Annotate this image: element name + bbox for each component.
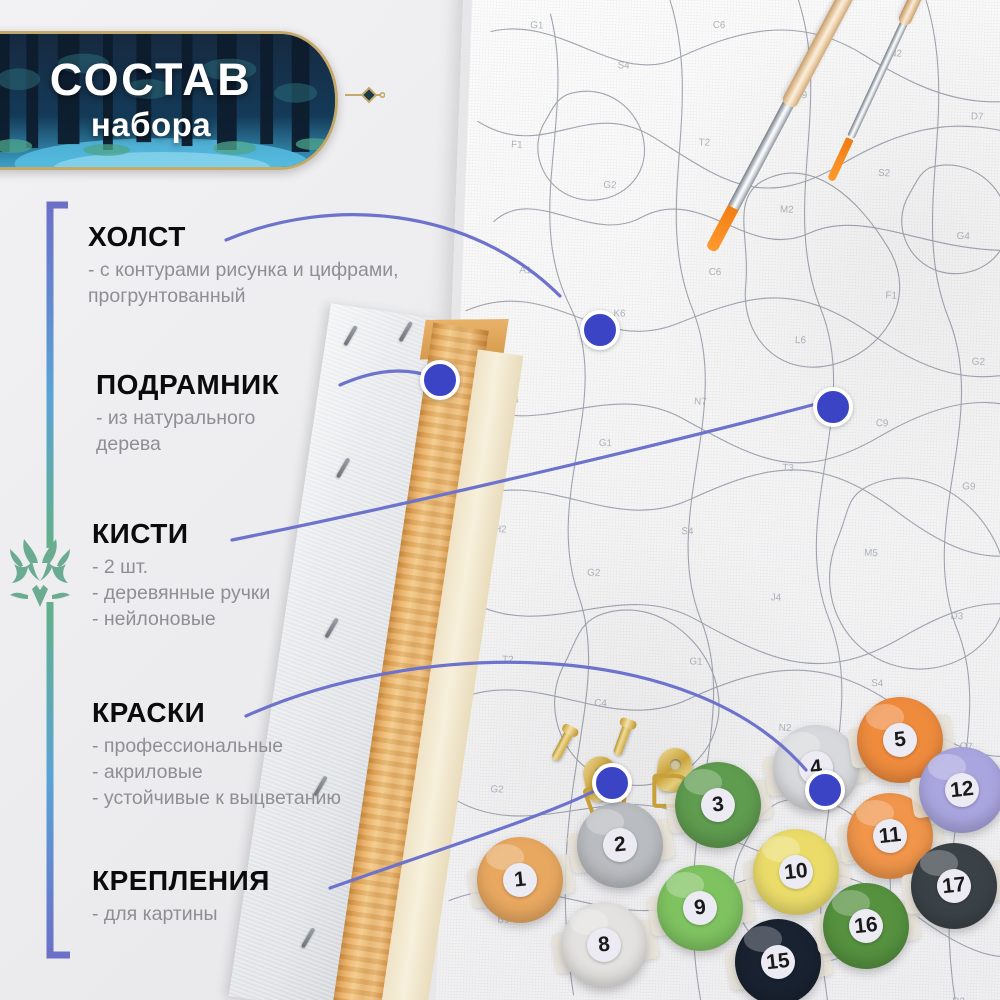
svg-text:M2: M2 [780, 204, 795, 216]
poster-stage: G1S4C6 G9N2D7 L6F1G2 T2M2S2 G4O9A1 K6C6L… [0, 0, 1000, 1000]
diamond-gem-ornament [345, 82, 385, 108]
svg-text:A1: A1 [519, 265, 532, 277]
svg-text:T2: T2 [502, 654, 514, 666]
item-canvas-bullets: - с контурами рисунка и цифрами, прогрун… [88, 258, 399, 310]
svg-text:G2: G2 [972, 356, 986, 368]
item-mounts-bullets: - для картины [92, 902, 270, 928]
svg-text:G2: G2 [587, 567, 601, 579]
svg-text:G4: G4 [956, 231, 970, 243]
svg-text:M5: M5 [864, 548, 879, 560]
svg-text:F1: F1 [511, 139, 523, 151]
svg-text:N7: N7 [694, 396, 707, 408]
svg-text:D7: D7 [971, 111, 984, 123]
callout-dot-paints [805, 770, 845, 810]
item-mounts-title: КРЕПЛЕНИЯ [92, 866, 270, 895]
svg-text:C4: C4 [594, 698, 607, 710]
svg-text:C6: C6 [713, 20, 726, 32]
svg-text:G1: G1 [689, 656, 703, 668]
bullet: - деревянные ручки [92, 581, 270, 607]
bracket-bottom [38, 600, 74, 960]
bullet: - для картины [92, 902, 270, 928]
item-paints: КРАСКИ - профессиональные - акриловые - … [92, 698, 341, 812]
paint-pot: 2 [577, 802, 663, 888]
svg-text:L6: L6 [795, 335, 807, 346]
item-brushes-title: КИСТИ [92, 519, 270, 548]
svg-text:C6: C6 [708, 267, 721, 279]
item-brushes-bullets: - 2 шт. - деревянные ручки - нейлоновые [92, 555, 270, 633]
item-mounts: КРЕПЛЕНИЯ - для картины [92, 866, 270, 928]
bullet: - акриловые [92, 760, 341, 786]
svg-text:G2: G2 [490, 784, 504, 796]
item-stretcher-title: ПОДРАМНИК [96, 370, 279, 399]
banner-title-line1: СОСТАВ [50, 57, 252, 102]
svg-text:T2: T2 [698, 137, 710, 149]
paint-pot: 8 [561, 902, 647, 988]
callout-dot-stretcher [420, 360, 460, 400]
banner-text: СОСТАВ набора [0, 34, 335, 167]
banner-title-line2: набора [91, 106, 211, 144]
bullet: - устойчивые к выцветанию [92, 786, 341, 812]
item-paints-title: КРАСКИ [92, 698, 341, 727]
callout-dot-canvas [580, 310, 620, 350]
svg-text:T3: T3 [782, 463, 794, 475]
svg-text:G2: G2 [603, 180, 617, 192]
item-stretcher: ПОДРАМНИК - из натурального дерева [96, 370, 279, 458]
svg-text:G1: G1 [599, 438, 613, 450]
svg-text:G9: G9 [962, 481, 976, 493]
callout-dot-mounts [592, 763, 632, 803]
paint-pot: 15 [735, 919, 821, 1000]
paint-pot: 17 [911, 843, 997, 929]
item-paints-bullets: - профессиональные - акриловые - устойчи… [92, 734, 341, 812]
item-canvas: ХОЛСТ - с контурами рисунка и цифрами, п… [88, 222, 399, 310]
svg-text:J4: J4 [771, 592, 782, 603]
svg-text:F1: F1 [885, 290, 897, 302]
svg-text:S4: S4 [617, 60, 630, 72]
bullet: - нейлоновые [92, 607, 270, 633]
svg-text:D3: D3 [950, 611, 963, 623]
bullet: - профессиональные [92, 734, 341, 760]
item-brushes: КИСТИ - 2 шт. - деревянные ручки - нейло… [92, 519, 270, 633]
bullet: - с контурами рисунка и цифрами, [88, 258, 399, 284]
paint-pot: 12 [919, 747, 1000, 833]
bullet: - из натурального [96, 406, 279, 432]
bullet: прогрунтованный [88, 284, 399, 310]
paint-pot: 16 [823, 883, 909, 969]
header-banner: СОСТАВ набора [0, 31, 338, 170]
svg-text:G1: G1 [530, 20, 544, 32]
paint-pot: 1 [477, 837, 563, 923]
item-canvas-title: ХОЛСТ [88, 222, 399, 251]
item-stretcher-bullets: - из натурального дерева [96, 406, 279, 458]
svg-text:S2: S2 [878, 168, 891, 180]
svg-text:C9: C9 [876, 418, 889, 430]
bracket-top [38, 200, 74, 550]
paint-pot: 3 [675, 762, 761, 848]
bullet: - 2 шт. [92, 555, 270, 581]
paint-pot: 9 [657, 865, 743, 951]
callout-dot-brushes [813, 387, 853, 427]
svg-text:S4: S4 [681, 526, 694, 538]
bullet: дерева [96, 432, 279, 458]
svg-text:S4: S4 [871, 678, 884, 690]
svg-text:D2: D2 [952, 996, 965, 1000]
